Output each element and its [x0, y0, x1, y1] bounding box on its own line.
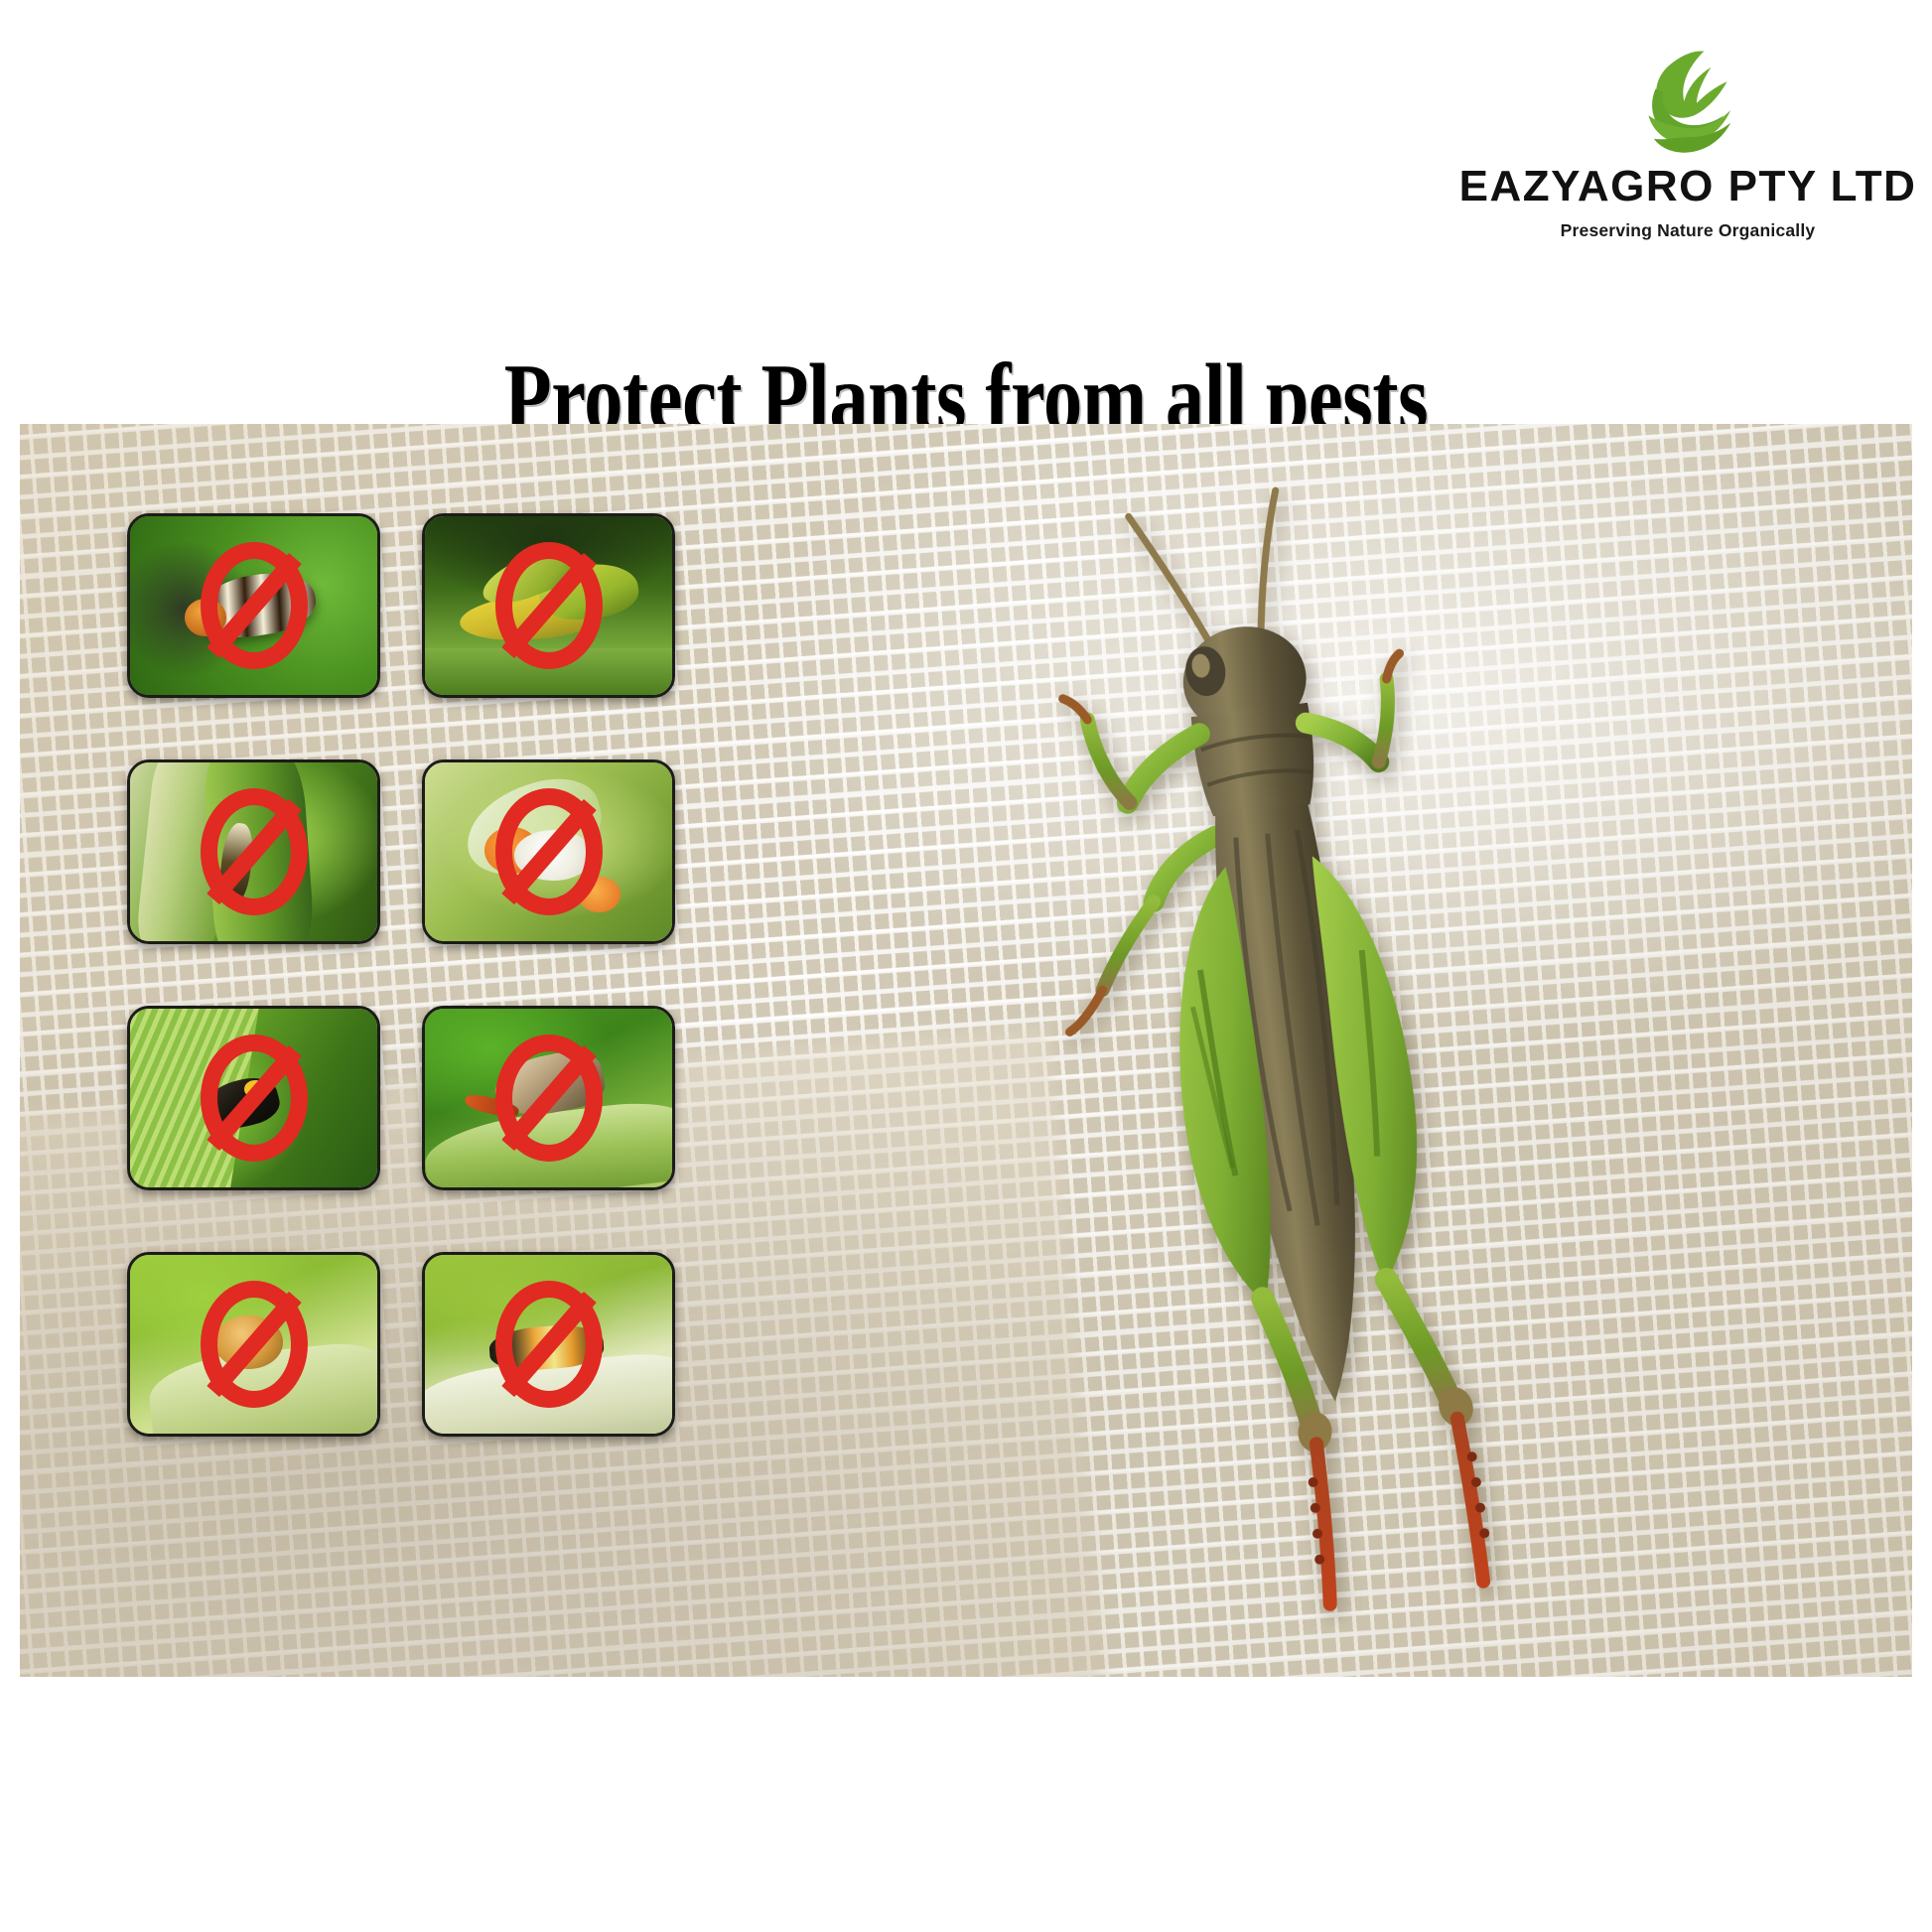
pest-thumb-grasshopper[interactable]: [422, 513, 675, 698]
brand-block: EAZYAGRO PTY LTD Preserving Nature Organ…: [1469, 46, 1906, 241]
pest-photo: [425, 516, 672, 695]
blocked-pests-grid: [127, 513, 709, 1437]
pest-thumb-mealybug[interactable]: [422, 759, 675, 944]
brand-name: EAZYAGRO PTY LTD: [1459, 165, 1917, 208]
pest-thumb-colorado-potato-beetle[interactable]: [127, 513, 380, 698]
leaf-blade-2: [202, 759, 316, 944]
leaf-sprout-icon: [1634, 46, 1741, 157]
brand-tagline: Preserving Nature Organically: [1561, 220, 1816, 241]
pest-photo: [130, 1255, 377, 1434]
pest-photo: [425, 762, 672, 941]
sawfly-marking: [244, 1080, 266, 1098]
pest-photo: [130, 1009, 377, 1187]
pest-photo: [130, 762, 377, 941]
pest-thumb-sawfly[interactable]: [127, 1006, 380, 1190]
beetle-head: [185, 599, 226, 636]
pest-photo: [130, 516, 377, 695]
pest-photo: [425, 1009, 672, 1187]
leaf-surface: [425, 648, 672, 695]
pest-photo: [425, 1255, 672, 1434]
mealybug-white-wax: [514, 830, 594, 880]
pest-thumb-ladybird-larva[interactable]: [422, 1252, 675, 1437]
spider-body: [214, 1315, 284, 1369]
pest-thumb-stem-borer-caterpillar[interactable]: [127, 759, 380, 944]
pest-thumb-leafhopper[interactable]: [422, 1006, 675, 1190]
pest-thumb-spider[interactable]: [127, 1252, 380, 1437]
hero-photo: [20, 424, 1912, 1677]
mealybug-orange-nymph: [578, 877, 620, 912]
